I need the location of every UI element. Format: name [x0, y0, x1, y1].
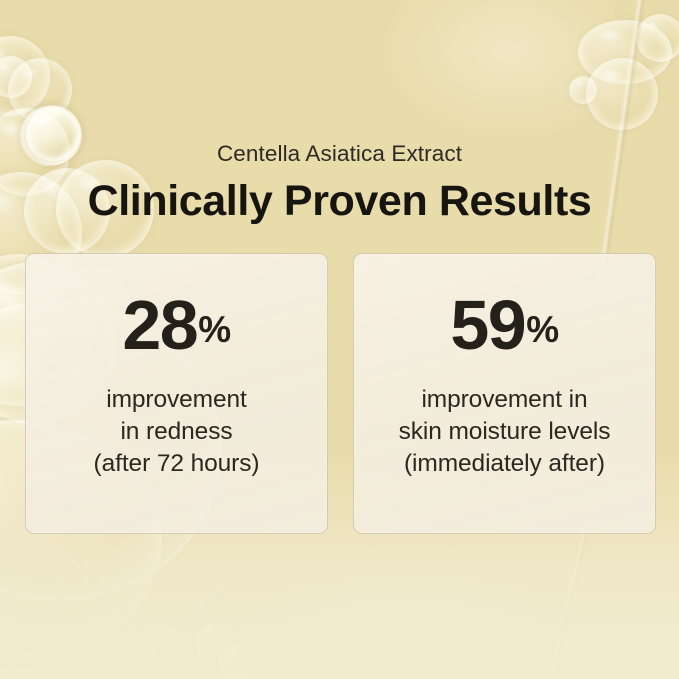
stat-description-line: in redness	[94, 416, 260, 448]
moisture-stat-card: 59 % improvement in skin moisture levels…	[353, 253, 656, 534]
stat-cards-row: 28 % improvement in redness (after 72 ho…	[25, 253, 656, 534]
stat-description-line: improvement	[94, 384, 260, 416]
product-claim-graphic: Centella Asiatica Extract Clinically Pro…	[0, 0, 679, 679]
stat-number: 28	[122, 290, 197, 360]
content-layer: Centella Asiatica Extract Clinically Pro…	[0, 0, 679, 679]
stat-description: improvement in redness (after 72 hours)	[94, 384, 260, 480]
redness-stat-card: 28 % improvement in redness (after 72 ho…	[25, 253, 328, 534]
stat-description-line: improvement in	[399, 384, 611, 416]
stat-description-line: skin moisture levels	[399, 416, 611, 448]
stat-number: 59	[450, 290, 525, 360]
stat-description-line: (immediately after)	[399, 448, 611, 480]
stat-value: 28 %	[122, 290, 230, 360]
stat-value: 59 %	[450, 290, 558, 360]
page-title: Clinically Proven Results	[0, 177, 679, 226]
stat-description: improvement in skin moisture levels (imm…	[399, 384, 611, 480]
stat-description-line: (after 72 hours)	[94, 448, 260, 480]
eyebrow-text: Centella Asiatica Extract	[0, 141, 679, 167]
stat-unit: %	[198, 311, 230, 348]
stat-unit: %	[526, 311, 558, 348]
